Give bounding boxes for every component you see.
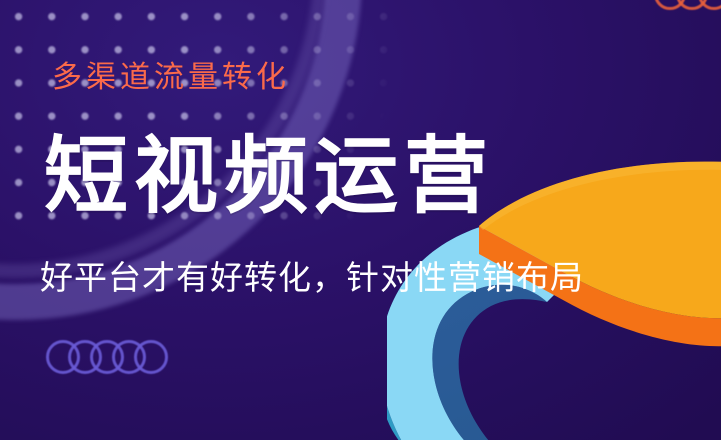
eyebrow-text: 多渠道流量转化 [52, 63, 290, 93]
orange-ring-icon [698, 0, 721, 10]
purple-ring-icon [134, 340, 168, 374]
page-title: 短视频运营 [44, 132, 494, 220]
poster-canvas: 多渠道流量转化 短视频运营 好平台才有好转化，针对性营销布局 [0, 0, 721, 440]
subtitle-text: 好平台才有好转化，针对性营销布局 [40, 258, 584, 298]
